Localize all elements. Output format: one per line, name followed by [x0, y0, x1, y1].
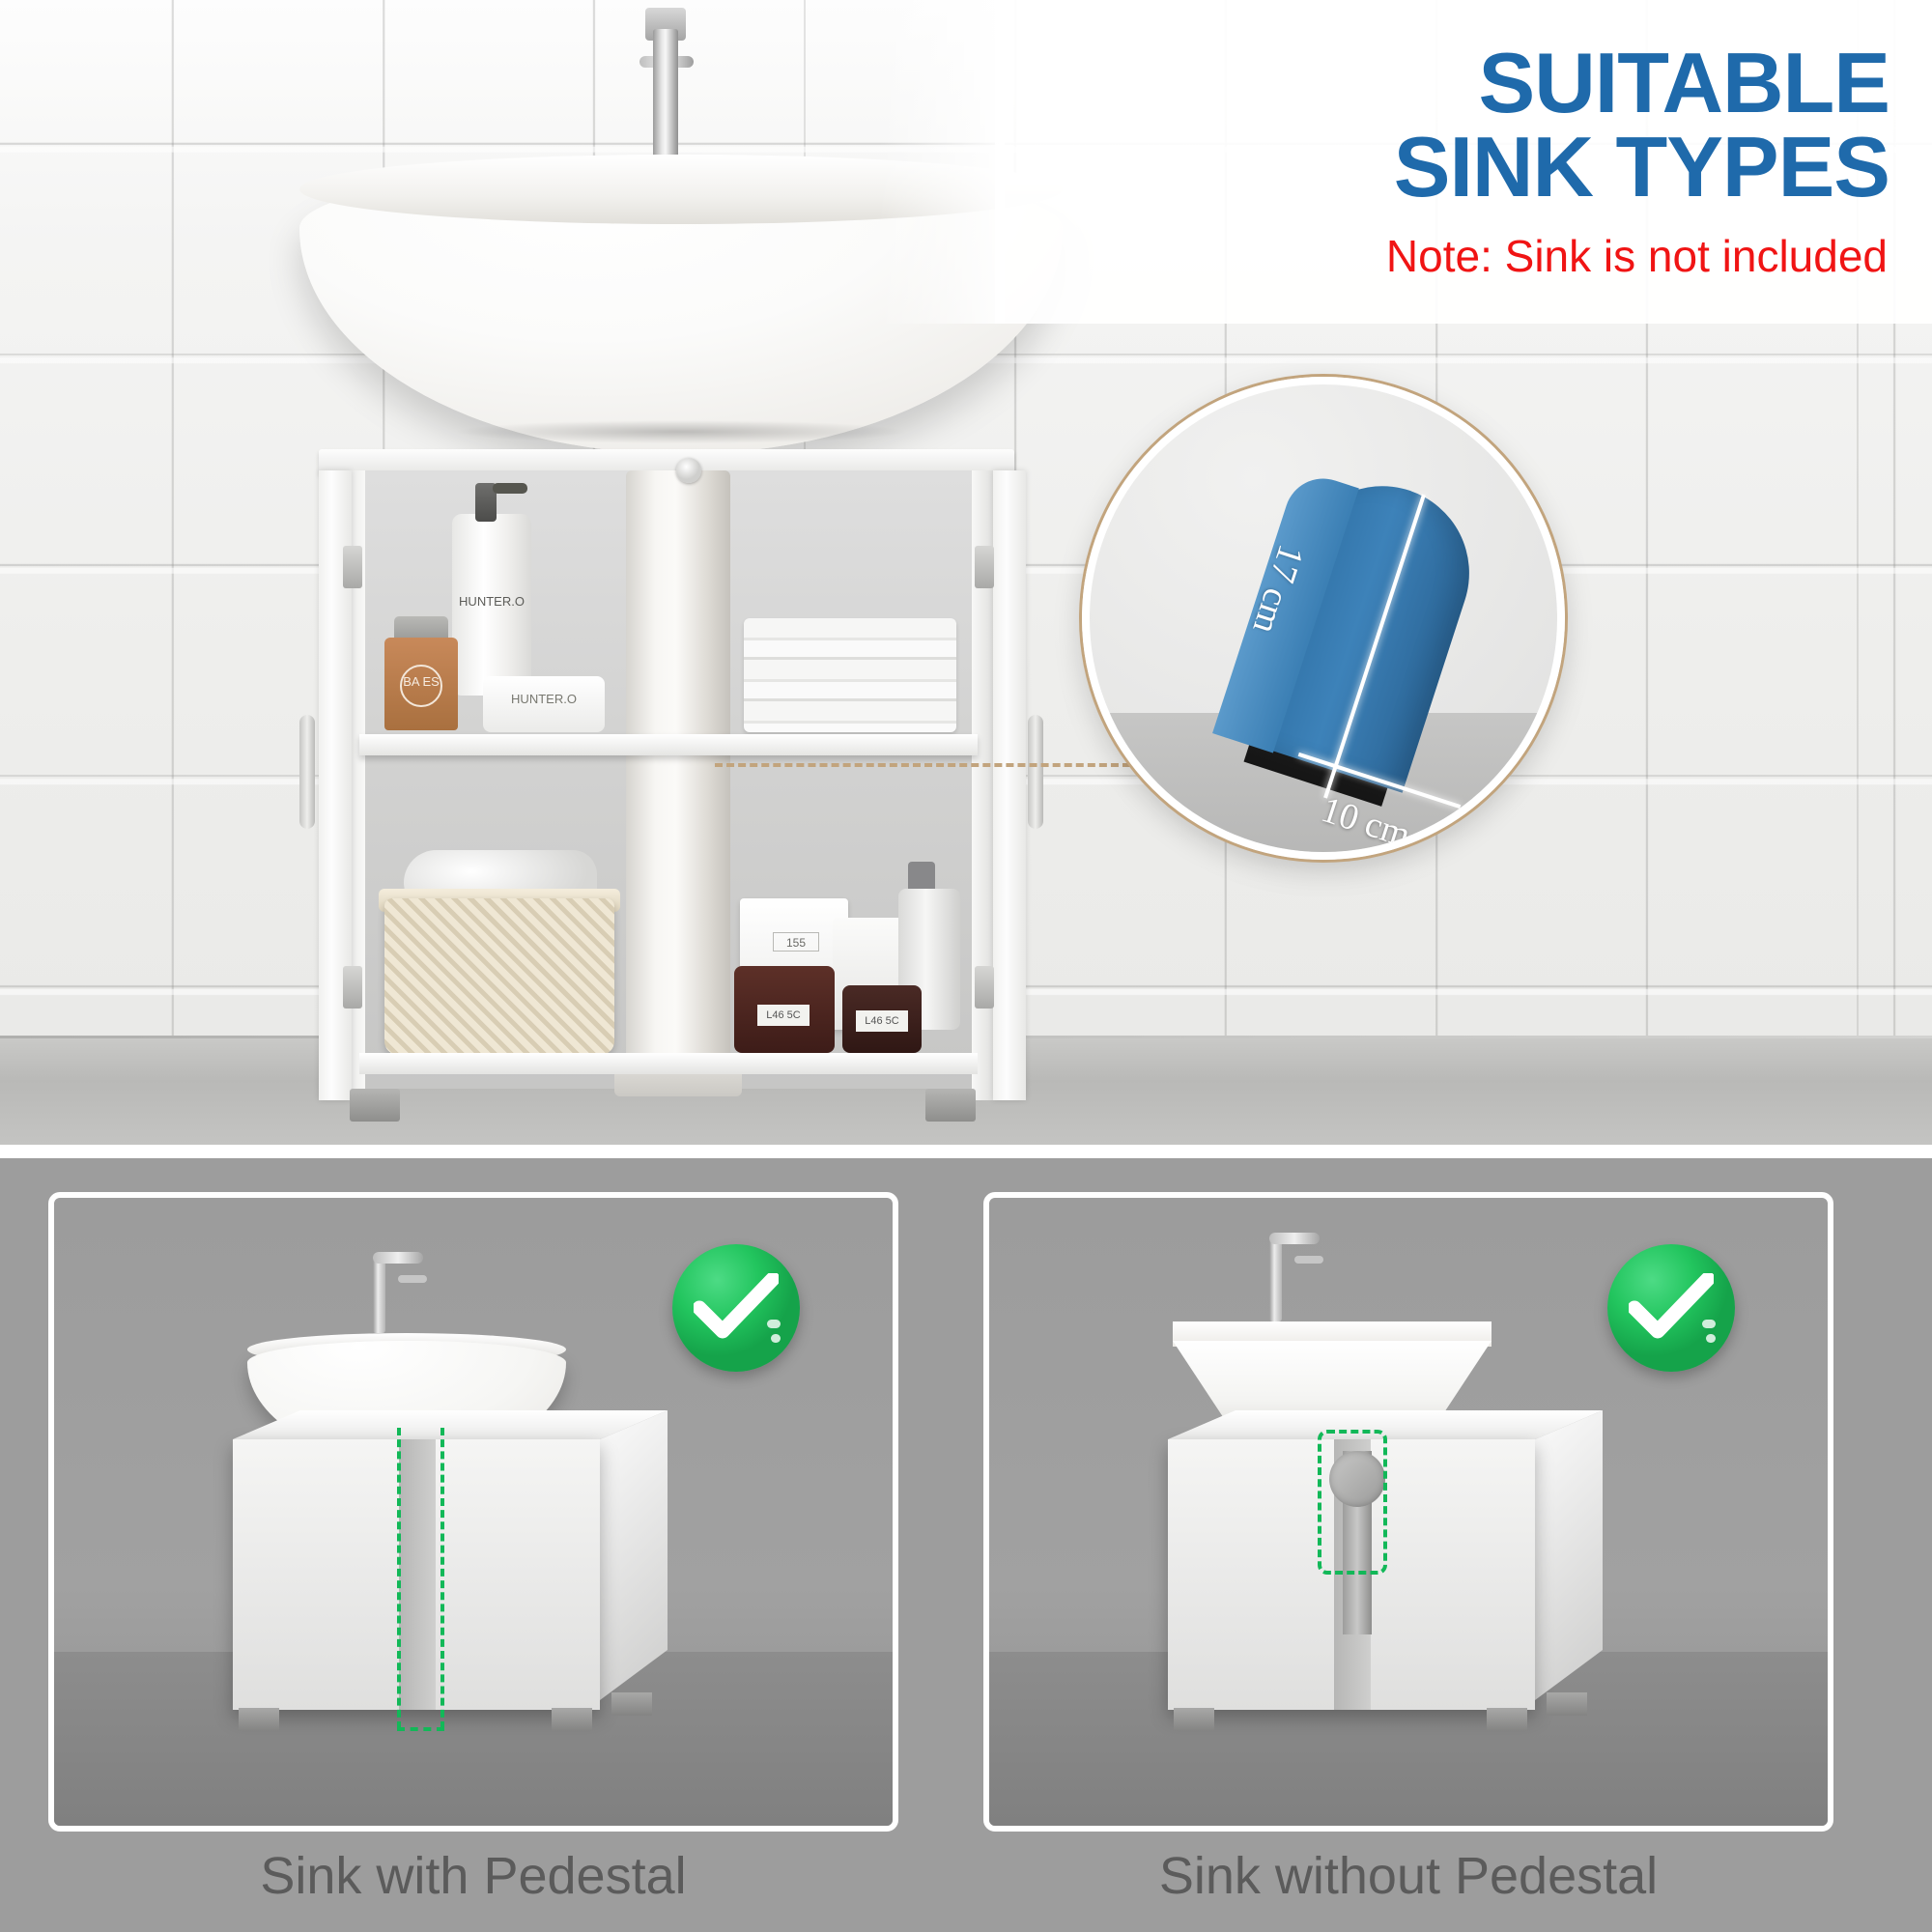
cabinet-middle-shelf: [359, 734, 978, 755]
mini-faucet-arm-right: [1269, 1233, 1320, 1244]
cabinet-hinge-left-top: [343, 546, 362, 588]
cabinet-door-right[interactable]: [993, 470, 1026, 1100]
mini-cabinet-side-left: [600, 1410, 668, 1700]
mini-cabinet-left: [233, 1439, 668, 1739]
soap-bottle-label: HUNTER.O: [454, 591, 529, 612]
cabinet-bottom-shelf: [359, 1053, 978, 1074]
dark-jar-1-tag: L46 5C: [757, 1005, 810, 1026]
mini-cabinet-foot-b-right: [1487, 1708, 1527, 1731]
cabinet-foot-left: [350, 1089, 400, 1122]
sink-shadow: [367, 415, 995, 448]
product-box-tag: 155: [773, 932, 819, 952]
mini-cabinet-center-gap-left: [399, 1439, 436, 1710]
check-icon: [1629, 1273, 1714, 1343]
section-divider: [0, 1145, 1932, 1158]
callout-connector-line: [715, 763, 1130, 767]
mini-cabinet-foot-a-right: [1174, 1708, 1214, 1731]
mini-faucet-lever-left: [398, 1275, 427, 1283]
cabinet-hinge-right-bottom: [975, 966, 994, 1009]
cabinet-hinge-left-bottom: [343, 966, 362, 1009]
panel-sink-with-pedestal: [48, 1192, 898, 1832]
mini-cabinet-foot-c-right: [1547, 1692, 1587, 1716]
panel-sink-without-pedestal: [983, 1192, 1833, 1832]
caption-sink-without-pedestal: Sink without Pedestal: [983, 1846, 1833, 1906]
check-badge-right: [1607, 1244, 1735, 1372]
cabinet-handle-left[interactable]: [299, 715, 315, 829]
mini-faucet-body-left: [373, 1258, 385, 1333]
dark-jar-2-tag: L46 5C: [856, 1010, 908, 1032]
cabinet-hinge-right-top: [975, 546, 994, 588]
mini-faucet-arm-left: [373, 1252, 423, 1264]
bottom-section: Sink with Pedestal Sink without Pedestal: [0, 1158, 1932, 1932]
note-text: Note: Sink is not included: [1386, 234, 1888, 278]
drain-highlight-box-right: [1318, 1430, 1387, 1575]
mini-cabinet-side-right: [1535, 1410, 1603, 1700]
folded-towels: [744, 618, 956, 732]
page-title: SUITABLE SINK TYPES: [1394, 41, 1889, 209]
pedestal-highlight-left-edge: [397, 1428, 401, 1729]
brown-jar-badge: BA ES: [400, 665, 442, 707]
mini-cabinet-foot-c-left: [611, 1692, 652, 1716]
mini-cabinet-foot-a-left: [239, 1708, 279, 1731]
mini-cabinet-foot-b-left: [552, 1708, 592, 1731]
product-scene: HUNTER.O BA ES HUNTER.O 155 L46 5C L46 5…: [0, 0, 1024, 1145]
cabinet-foot-right: [925, 1089, 976, 1122]
top-section: HUNTER.O BA ES HUNTER.O 155 L46 5C L46 5…: [0, 0, 1932, 1145]
mini-faucet-lever-right: [1294, 1256, 1323, 1264]
check-badge-left: [672, 1244, 800, 1372]
badge-gloss-dots-left: [767, 1320, 781, 1349]
badge-gloss-dots-right: [1702, 1320, 1716, 1349]
sink-pedestal: [626, 470, 730, 1089]
cabinet-top-marker-dot: [676, 458, 701, 483]
pedestal-highlight-right-edge: [440, 1428, 444, 1729]
mini-cabinet-top-left: [233, 1410, 668, 1443]
check-icon: [694, 1273, 779, 1343]
mini-faucet-body-right: [1269, 1238, 1282, 1321]
caption-sink-with-pedestal: Sink with Pedestal: [48, 1846, 898, 1906]
round-tub-label: HUNTER.O: [489, 692, 599, 706]
pedestal-highlight-bottom-edge: [397, 1727, 444, 1731]
cabinet-handle-right[interactable]: [1028, 715, 1043, 829]
faucet-body: [653, 29, 678, 164]
soap-pump-arm-icon: [493, 483, 527, 494]
woven-basket: [384, 898, 614, 1055]
dimension-callout-circle: 17 cm 10 cm: [1082, 377, 1565, 860]
